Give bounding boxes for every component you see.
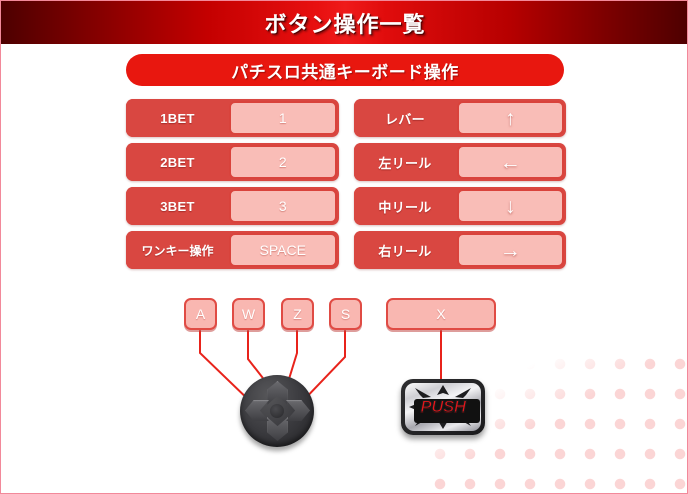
row-value: 3	[229, 189, 337, 223]
table-row: 中リール ↓	[354, 187, 567, 225]
table-row: 左リール ←	[354, 143, 567, 181]
row-value: ↑	[457, 101, 565, 135]
reel-stop-dpad[interactable]	[240, 375, 314, 447]
keycap-a[interactable]: A	[184, 298, 217, 330]
row-label: 中リール	[354, 187, 457, 225]
row-value: 2	[229, 145, 337, 179]
table-row: 1BET 1	[126, 99, 339, 137]
push-button-face: PUSH	[405, 383, 481, 431]
subtitle-banner: パチスロ共通キーボード操作	[126, 54, 564, 86]
table-row: ワンキー操作 SPACE	[126, 231, 339, 269]
page-title: ボタン操作一覧	[264, 7, 425, 39]
row-value: →	[457, 233, 565, 267]
keycap-z[interactable]: Z	[281, 298, 314, 330]
row-label: レバー	[354, 99, 457, 137]
row-label: 右リール	[354, 231, 457, 269]
row-value: SPACE	[229, 233, 337, 267]
arrow-left-icon: ←	[500, 152, 521, 173]
keycap-x[interactable]: X	[386, 298, 496, 330]
table-row: レバー ↑	[354, 99, 567, 137]
dpad-center	[270, 404, 284, 418]
arrow-down-icon: ↓	[505, 196, 516, 217]
table-row: 右リール →	[354, 231, 567, 269]
page-root: ボタン操作一覧 パチスロ共通キーボード操作 1BET 1 2BET 2 3BET…	[0, 0, 688, 494]
arrow-right-icon: →	[500, 240, 521, 261]
keycap-w[interactable]: W	[232, 298, 265, 330]
subtitle-banner-text: パチスロ共通キーボード操作	[231, 58, 459, 83]
row-value: ←	[457, 145, 565, 179]
table-row: 2BET 2	[126, 143, 339, 181]
key-mapping-table: 1BET 1 2BET 2 3BET 3 ワンキー操作 SPACE レバー ↑	[126, 99, 566, 269]
row-label: ワンキー操作	[126, 231, 229, 269]
arrow-up-icon: ↑	[505, 108, 516, 129]
row-label: 左リール	[354, 143, 457, 181]
table-row: 3BET 3	[126, 187, 339, 225]
push-button-label: PUSH	[420, 397, 465, 417]
page-header: ボタン操作一覧	[1, 1, 688, 44]
row-label: 3BET	[126, 187, 229, 225]
keycap-s[interactable]: S	[329, 298, 362, 330]
subtitle-banner-pill: パチスロ共通キーボード操作	[126, 54, 564, 86]
push-button[interactable]: PUSH	[401, 379, 485, 435]
row-value: 1	[229, 101, 337, 135]
key-mapping-right-column: レバー ↑ 左リール ← 中リール ↓ 右リール →	[354, 99, 567, 269]
key-mapping-left-column: 1BET 1 2BET 2 3BET 3 ワンキー操作 SPACE	[126, 99, 339, 269]
row-label: 1BET	[126, 99, 229, 137]
row-label: 2BET	[126, 143, 229, 181]
row-value: ↓	[457, 189, 565, 223]
